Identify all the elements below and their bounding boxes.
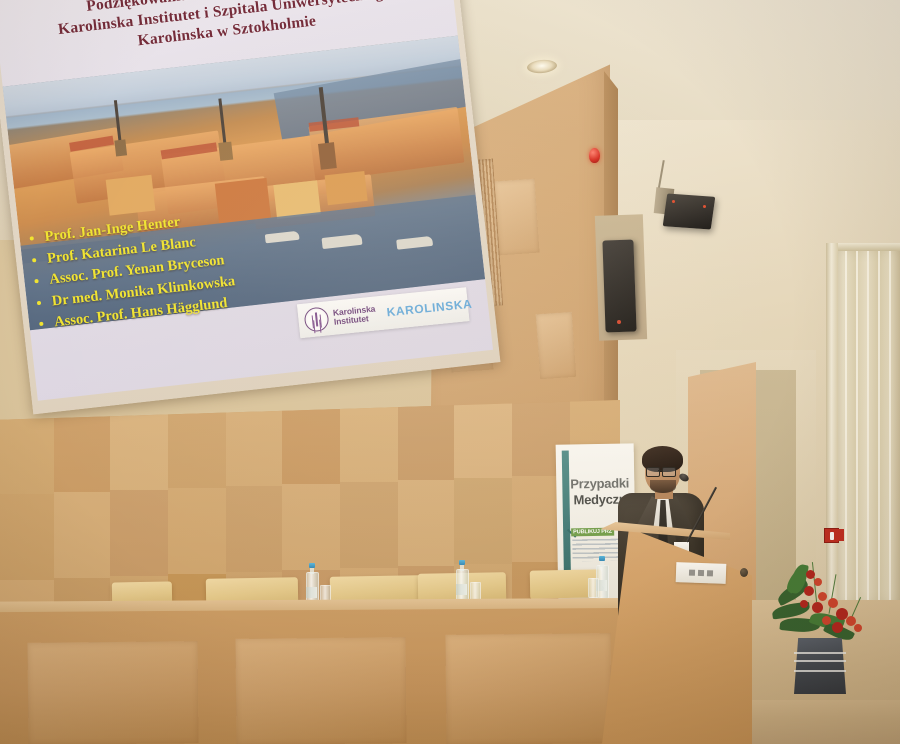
projected-slide: Podziękowania dla współpracowników z Kar…: [0, 0, 493, 401]
presenter-beard: [650, 480, 676, 493]
banner-accent-bar: [562, 450, 571, 582]
karolinska-wordmark: KAROLINSKA: [386, 297, 473, 320]
fire-direction-sign-icon: [838, 529, 844, 541]
table-inset-panel: [27, 641, 198, 744]
glasses-bridge: [658, 470, 662, 471]
blind-headrail: [833, 243, 900, 251]
planter-box: [794, 638, 846, 694]
glasses-icon: [646, 467, 660, 477]
table-inset-panel: [235, 637, 406, 744]
water-bottle: [456, 559, 468, 603]
projection-screen: Podziękowania dla współpracowników z Kar…: [0, 0, 500, 414]
fire-alarm-light-icon: [589, 148, 600, 163]
wall-inset-panel: [494, 179, 539, 256]
loudspeaker-icon: [602, 239, 636, 332]
wall-inset-panel: [536, 312, 576, 379]
flower-arrangement: [770, 556, 888, 696]
fire-extinguisher-sign-icon: [824, 528, 839, 543]
loudspeaker-led-icon: [672, 200, 675, 203]
podium-knob: [740, 568, 748, 577]
window-mullion: [826, 243, 838, 609]
loudspeaker-icon: [663, 193, 716, 229]
table-inset-panel: [445, 633, 611, 744]
conference-photo-scene: Podziękowania dla współpracowników z Kar…: [0, 0, 900, 744]
vertical-blinds: [836, 247, 900, 607]
karolinska-institutet-wordmark: Karolinska Institutet: [333, 305, 377, 327]
podium-label-plaque: [676, 562, 727, 584]
water-bottle: [306, 562, 318, 606]
glasses-icon: [662, 467, 676, 477]
ki-line-2: Institutet: [333, 313, 376, 326]
karolinska-seal-icon: [303, 306, 329, 332]
loudspeaker-led-icon: [703, 205, 706, 208]
loudspeaker-led-icon: [617, 320, 621, 324]
drinking-glass: [588, 578, 599, 598]
